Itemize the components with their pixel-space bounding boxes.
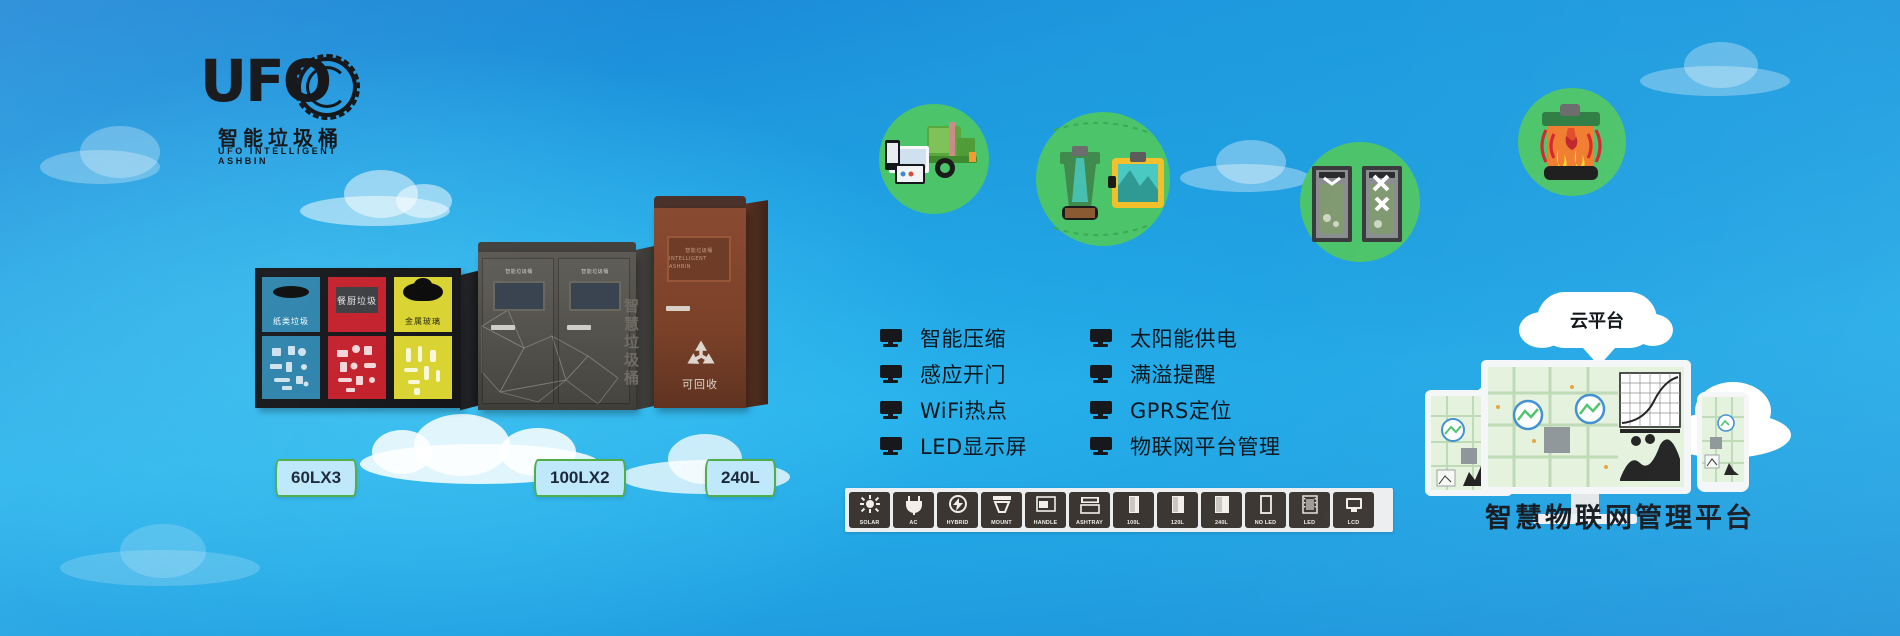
bin-cell-label: 金属玻璃 [394, 316, 452, 327]
feature-label: 满溢提醒 [1130, 359, 1216, 389]
bin-side-panel [460, 271, 478, 410]
spec-240l[interactable]: 240L [1201, 492, 1242, 528]
ufo-logo: UFO 智能垃圾桶 UFO INTELLIGENT ASHBIN [200, 52, 390, 157]
device-monitor[interactable] [1481, 360, 1691, 494]
no-led-icon [1255, 495, 1277, 515]
door-caption: 智能垃圾桶 [569, 268, 621, 275]
clover-slot-icon [403, 283, 443, 301]
bin-cell-paper-top: 纸类垃圾 [262, 277, 320, 332]
oval-slot-icon [273, 286, 309, 298]
product-triple-bin[interactable]: 纸类垃圾 餐厨垃圾 [255, 268, 461, 408]
spec-caption: 120L [1157, 520, 1198, 526]
logo-english-name: UFO INTELLIGENT ASHBIN [218, 146, 390, 166]
spec-hybrid[interactable]: HYBRID [937, 492, 978, 528]
door-handle-icon[interactable] [491, 325, 515, 330]
feature-circle-auto-bagging[interactable] [1300, 142, 1420, 262]
door-handle-icon[interactable] [567, 325, 591, 330]
spec-ac[interactable]: AC [893, 492, 934, 528]
ufo-ring-icon [294, 54, 360, 120]
led-icon [1299, 495, 1321, 515]
spec-100l[interactable]: 100L [1113, 492, 1154, 528]
feature-label: 太阳能供电 [1130, 323, 1238, 353]
sun-icon [859, 495, 881, 515]
feature-item: WiFi热点 [880, 392, 1027, 428]
monitor-icon [1090, 401, 1116, 419]
spec-caption: NO LED [1245, 520, 1286, 526]
monitor-icon [880, 365, 906, 383]
bin-info-screen: 智能垃圾桶 INTELLIGENT ASHBIN [667, 236, 731, 282]
monitor-icon [1090, 365, 1116, 383]
feature-list-left: 智能压缩 感应开门 WiFi热点 LED显示屏 [880, 320, 1027, 464]
monitor-icon [880, 437, 906, 455]
bin-240l-icon [1211, 495, 1233, 515]
bin-100l-icon [1123, 495, 1145, 515]
banner-stage: UFO 智能垃圾桶 UFO INTELLIGENT ASHBIN 纸类垃圾 [0, 0, 1900, 636]
capacity-tag-60lx3: 60LX3 [275, 459, 357, 497]
bin-body: 智能垃圾桶 INTELLIGENT ASHBIN 可回收 [654, 208, 746, 408]
feature-item: LED显示屏 [880, 428, 1027, 464]
door-screen [569, 281, 621, 311]
feature-circle-fire-alarm[interactable] [1518, 88, 1626, 196]
feature-circle-bin-transfer-container[interactable] [1036, 112, 1170, 246]
feature-item: 太阳能供电 [1090, 320, 1281, 356]
monitor-icon [880, 329, 906, 347]
spec-lcd[interactable]: LCD [1333, 492, 1374, 528]
feature-item: GPRS定位 [1090, 392, 1281, 428]
product-brown-bin[interactable]: 智能垃圾桶 INTELLIGENT ASHBIN 可回收 [654, 196, 766, 408]
device-phone[interactable] [1697, 392, 1749, 492]
bin-cell-kitchen-top: 餐厨垃圾 [328, 277, 386, 332]
recycle-icon [684, 338, 718, 372]
litter-graphic-icon [328, 336, 386, 399]
spec-caption: 100L [1113, 520, 1154, 526]
platform-title: 智慧物联网管理平台 [1425, 496, 1815, 535]
bin-cell-label: 餐厨垃圾 [336, 287, 378, 313]
spec-caption: SOLAR [849, 520, 890, 526]
feature-label: 物联网平台管理 [1130, 431, 1281, 461]
spec-mount[interactable]: MOUNT [981, 492, 1022, 528]
bin-cell-metalglass-top: 金属玻璃 [394, 277, 452, 332]
bin-side-panel [744, 200, 768, 408]
spec-no-led[interactable]: NO LED [1245, 492, 1286, 528]
monitor-icon [1090, 437, 1116, 455]
bin-door-right[interactable]: 智能垃圾桶 [558, 258, 630, 404]
iot-platform-illustration: 云平台 [1425, 300, 1815, 530]
bin-cell-paper-door [262, 336, 320, 399]
door-handle-icon[interactable] [666, 306, 690, 311]
bin-cell-kitchen-door [328, 336, 386, 399]
feature-item: 物联网平台管理 [1090, 428, 1281, 464]
bin-vertical-brand-text: 智慧垃圾桶 [626, 298, 642, 388]
spec-ashtray[interactable]: ASHTRAY [1069, 492, 1110, 528]
product-double-bin[interactable]: 智能垃圾桶 智能垃圾桶 智慧垃圾桶 [478, 242, 648, 412]
spec-caption: LED [1289, 520, 1330, 526]
feature-item: 满溢提醒 [1090, 356, 1281, 392]
spec-caption: ASHTRAY [1069, 520, 1110, 526]
feature-label: GPRS定位 [1130, 395, 1232, 425]
plug-icon [903, 495, 925, 515]
screen-line-1: 智能垃圾桶 [685, 247, 713, 255]
feature-circle-collection-truck-monitoring[interactable] [879, 104, 989, 214]
capacity-tag-100lx2: 100LX2 [534, 459, 626, 497]
ashtray-icon [1079, 495, 1101, 515]
monitor-screen [1488, 367, 1684, 487]
monitor-icon [1090, 329, 1116, 347]
capacity-tag-240l: 240L [705, 459, 776, 497]
bin-to-container-icon [1036, 112, 1170, 246]
feature-label: 智能压缩 [920, 323, 1006, 353]
feature-item: 智能压缩 [880, 320, 1027, 356]
door-screen [493, 281, 545, 311]
lcd-icon [1343, 495, 1365, 515]
bin-cell-label: 纸类垃圾 [262, 316, 320, 327]
feature-list-right: 太阳能供电 满溢提醒 GPRS定位 物联网平台管理 [1090, 320, 1281, 464]
spec-icon-strip: SOLAR AC HYBRID MOUNT [845, 488, 1393, 532]
spec-caption: 240L [1201, 520, 1242, 526]
hybrid-power-icon [947, 495, 969, 515]
handle-icon [1035, 495, 1057, 515]
bin-body: 智能垃圾桶 智能垃圾桶 [478, 252, 636, 410]
spec-caption: LCD [1333, 520, 1374, 526]
litter-graphic-icon [262, 336, 320, 399]
bag-tie-icon [1300, 142, 1420, 262]
fire-alarm-icon [1518, 88, 1626, 196]
litter-graphic-icon [394, 336, 452, 399]
bin-cell-metalglass-door [394, 336, 452, 399]
feature-label: WiFi热点 [920, 395, 1008, 425]
spec-caption: MOUNT [981, 520, 1022, 526]
bin-120l-icon [1167, 495, 1189, 515]
recycle-label: 可回收 [654, 376, 746, 392]
monitor-icon [880, 401, 906, 419]
feature-item: 感应开门 [880, 356, 1027, 392]
door-caption: 智能垃圾桶 [493, 268, 545, 275]
phone-screen [1702, 397, 1744, 482]
spec-caption: HYBRID [937, 520, 978, 526]
feature-label: 感应开门 [920, 359, 1006, 389]
screen-line-2: INTELLIGENT ASHBIN [669, 255, 729, 271]
spec-caption: HANDLE [1025, 520, 1066, 526]
spec-solar[interactable]: SOLAR [849, 492, 890, 528]
spec-120l[interactable]: 120L [1157, 492, 1198, 528]
cloud-platform-label: 云平台 [1570, 307, 1624, 333]
spec-led[interactable]: LED [1289, 492, 1330, 528]
bin-door-left[interactable]: 智能垃圾桶 [482, 258, 554, 404]
spec-handle[interactable]: HANDLE [1025, 492, 1066, 528]
feature-label: LED显示屏 [920, 431, 1027, 461]
truck-dashboard-icon [879, 104, 989, 214]
wall-mount-icon [991, 495, 1013, 515]
spec-caption: AC [893, 520, 934, 526]
screen-slot-icon: 餐厨垃圾 [333, 284, 381, 316]
